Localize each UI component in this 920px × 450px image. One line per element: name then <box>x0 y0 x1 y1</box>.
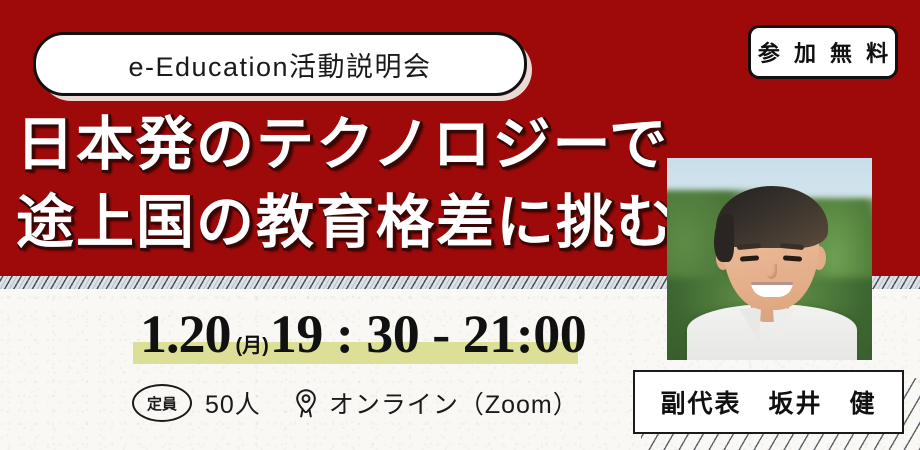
title-badge: e-Education活動説明会 <box>33 32 525 94</box>
event-time-range: 19 : 30 - 21:00 <box>270 303 586 365</box>
headline: 日本発のテクノロジーで 途上国の教育格差に挑む <box>16 106 676 262</box>
capacity-value: 50人 <box>205 385 261 421</box>
portrait-hair-side <box>714 214 734 262</box>
speaker-portrait-photo <box>667 158 872 360</box>
portrait-nose <box>766 264 777 279</box>
capacity-badge: 定員 <box>132 384 192 422</box>
free-admission-badge-body: 参 加 無 料 <box>748 25 898 79</box>
free-admission-badge: 参 加 無 料 <box>748 25 896 77</box>
headline-line-2: 途上国の教育格差に挑む <box>16 184 676 262</box>
free-admission-label: 参 加 無 料 <box>754 36 892 68</box>
event-datetime: 1.20 (月) 19 : 30 - 21:00 <box>140 303 586 365</box>
portrait-collar-right <box>769 307 794 343</box>
speaker-name: 副代表 坂井 健 <box>660 384 876 420</box>
title-badge-body: e-Education活動説明会 <box>33 32 527 96</box>
capacity-label: 定員 <box>147 393 177 414</box>
headline-line-1: 日本発のテクノロジーで <box>16 106 676 184</box>
event-date: 1.20 <box>140 303 231 365</box>
event-banner: e-Education活動説明会 参 加 無 料 日本発のテクノロジーで 途上国… <box>0 0 920 450</box>
event-day-of-week: (月) <box>236 329 269 358</box>
title-badge-label: e-Education活動説明会 <box>128 45 431 84</box>
event-info-row: 定員 50人 オンライン（Zoom） <box>132 384 579 422</box>
portrait-collar-left <box>739 307 764 343</box>
venue-label: オンライン（Zoom） <box>329 385 579 421</box>
location-pin-icon <box>293 388 319 418</box>
speaker-name-box: 副代表 坂井 健 <box>633 370 904 434</box>
